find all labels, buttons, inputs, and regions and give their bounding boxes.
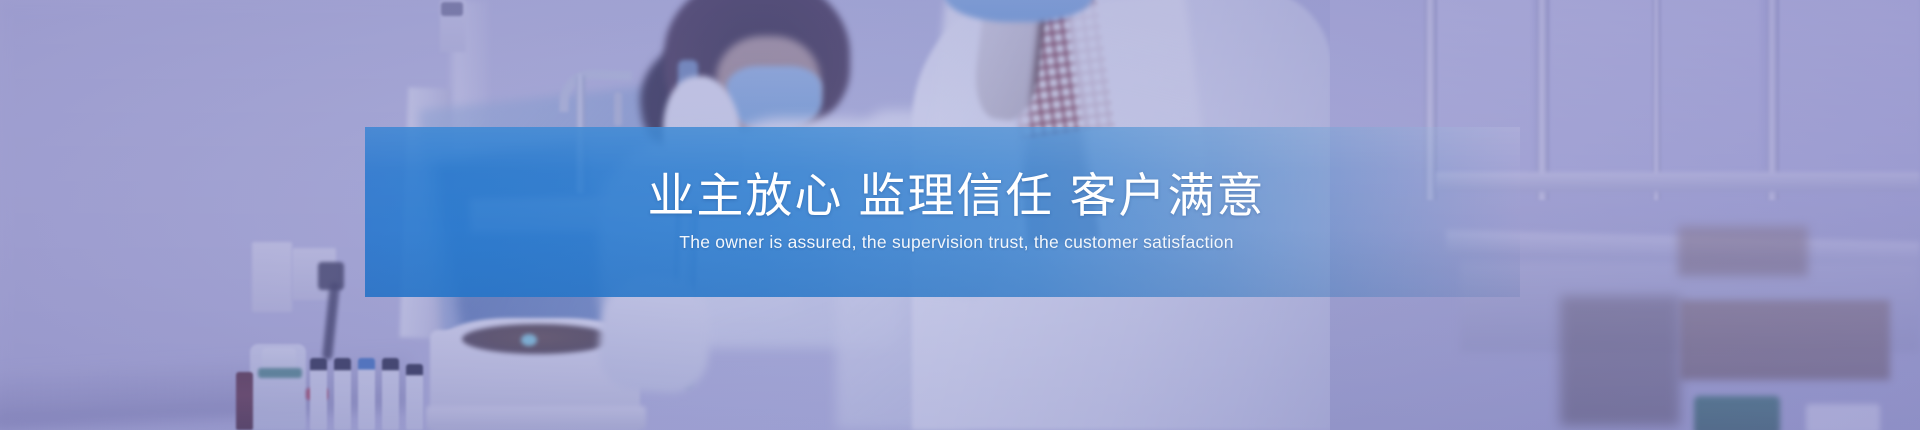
banner-headline: 业主放心 监理信任 客户满意 xyxy=(647,171,1265,222)
banner-text-block: 业主放心 监理信任 客户满意 The owner is assured, the… xyxy=(365,127,1520,297)
hero-banner: 业主放心 监理信任 客户满意 The owner is assured, the… xyxy=(0,0,1920,430)
banner-subheadline: The owner is assured, the supervision tr… xyxy=(679,232,1233,253)
